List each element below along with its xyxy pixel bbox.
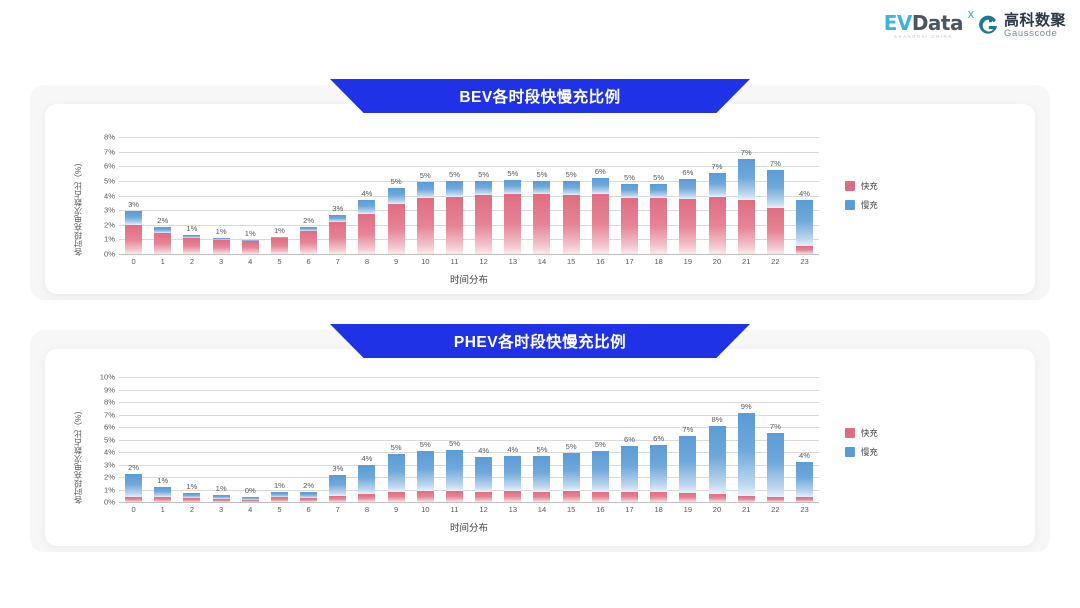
- stacked-bar[interactable]: [329, 215, 346, 254]
- bar-segment-slow-charge[interactable]: [563, 181, 580, 195]
- x-axis-tick: 0: [119, 505, 148, 514]
- y-axis-tick: 6%: [104, 162, 115, 171]
- legend-label: 慢充: [861, 446, 878, 458]
- y-axis-tick: 7%: [104, 410, 115, 419]
- y-axis-tick: 0%: [104, 250, 115, 259]
- bar-group: 2%1%1%1%0%1%2%3%4%5%5%5%4%4%5%5%5%6%6%7%…: [119, 377, 819, 502]
- stacked-bar[interactable]: [417, 182, 434, 254]
- bar-segment-slow-charge[interactable]: [504, 180, 521, 194]
- x-axis-tick: 12: [469, 505, 498, 514]
- stacked-bar[interactable]: [767, 170, 784, 254]
- bar-segment-fast-charge[interactable]: [213, 499, 230, 502]
- bar-segment-fast-charge[interactable]: [154, 497, 171, 502]
- stacked-bar[interactable]: [213, 238, 230, 254]
- bar-column[interactable]: 1%: [265, 377, 294, 502]
- phev-card: 0%1%2%3%4%5%6%7%8%9%10%2%1%1%1%0%1%2%3%4…: [45, 349, 1035, 546]
- x-axis-ticks: 01234567891011121314151617181920212223: [119, 257, 819, 266]
- bar-segment-slow-charge[interactable]: [533, 181, 550, 194]
- bar-segment-fast-charge[interactable]: [650, 198, 667, 254]
- bar-column[interactable]: 1%: [177, 137, 206, 254]
- bar-segment-slow-charge[interactable]: [154, 487, 171, 497]
- bar-segment-slow-charge[interactable]: [650, 445, 667, 493]
- bar-column[interactable]: 5%: [440, 137, 469, 254]
- bar-segment-fast-charge[interactable]: [679, 493, 696, 502]
- bar-column[interactable]: 5%: [615, 137, 644, 254]
- stacked-bar[interactable]: [388, 454, 405, 502]
- stacked-bar[interactable]: [242, 240, 259, 254]
- y-axis-tick: 4%: [104, 448, 115, 457]
- bar-column[interactable]: 0%: [236, 377, 265, 502]
- bar-segment-slow-charge[interactable]: [621, 184, 638, 198]
- x-axis-tick: 16: [586, 505, 615, 514]
- legend-item[interactable]: 快充: [845, 180, 878, 192]
- bar-column[interactable]: 5%: [498, 137, 527, 254]
- legend-item[interactable]: 慢充: [845, 446, 878, 458]
- x-axis-tick: 16: [586, 257, 615, 266]
- stacked-bar[interactable]: [475, 457, 492, 502]
- x-axis-ticks: 01234567891011121314151617181920212223: [119, 505, 819, 514]
- x-axis-tick: 17: [615, 505, 644, 514]
- x-axis-tick: 6: [294, 257, 323, 266]
- bar-column[interactable]: 2%: [119, 377, 148, 502]
- stacked-bar[interactable]: [563, 181, 580, 254]
- chart-legend: 快充慢充: [845, 427, 878, 458]
- x-axis-tick: 5: [265, 505, 294, 514]
- x-axis-tick: 14: [527, 505, 556, 514]
- phev-banner-title: PHEV各时段快慢充比例: [330, 324, 750, 358]
- bar-segment-fast-charge[interactable]: [358, 494, 375, 503]
- bar-column[interactable]: 6%: [644, 377, 673, 502]
- bar-column[interactable]: 3%: [323, 137, 352, 254]
- bar-column[interactable]: 4%: [352, 137, 381, 254]
- x-axis-tick: 9: [382, 257, 411, 266]
- gausscode-name-cn: 高科数聚: [1004, 13, 1066, 29]
- bar-segment-fast-charge[interactable]: [533, 492, 550, 502]
- bar-column[interactable]: 1%: [177, 377, 206, 502]
- bar-segment-fast-charge[interactable]: [504, 491, 521, 502]
- x-axis-label: 时间分布: [119, 272, 819, 286]
- x-axis-label: 时间分布: [119, 520, 819, 534]
- bar-column[interactable]: 5%: [527, 377, 556, 502]
- bar-segment-fast-charge[interactable]: [242, 241, 259, 254]
- bar-column[interactable]: 4%: [469, 377, 498, 502]
- bar-value-label: 8%: [712, 415, 723, 424]
- y-axis-tick: 3%: [104, 206, 115, 215]
- stacked-bar[interactable]: [563, 453, 580, 502]
- bar-segment-fast-charge[interactable]: [183, 238, 200, 254]
- bar-column[interactable]: 7%: [732, 137, 761, 254]
- bar-column[interactable]: 5%: [586, 377, 615, 502]
- bar-segment-fast-charge[interactable]: [767, 497, 784, 502]
- stacked-bar[interactable]: [650, 445, 667, 503]
- bar-segment-slow-charge[interactable]: [388, 188, 405, 203]
- bar-segment-fast-charge[interactable]: [504, 194, 521, 254]
- stacked-bar[interactable]: [329, 475, 346, 503]
- bar-value-label: 1%: [245, 229, 256, 238]
- stacked-bar[interactable]: [738, 413, 755, 502]
- x-axis-tick: 0: [119, 257, 148, 266]
- bar-column[interactable]: 5%: [411, 377, 440, 502]
- bar-value-label: 4%: [507, 445, 518, 454]
- legend-label: 慢充: [861, 199, 878, 211]
- stacked-bar[interactable]: [242, 497, 259, 502]
- bar-column[interactable]: 4%: [498, 377, 527, 502]
- bar-column[interactable]: 7%: [673, 377, 702, 502]
- bar-segment-fast-charge[interactable]: [767, 208, 784, 254]
- bar-segment-fast-charge[interactable]: [183, 498, 200, 502]
- evdata-wordmark: EVDatax: [884, 13, 963, 33]
- x-axis-tick: 8: [352, 257, 381, 266]
- bar-segment-slow-charge[interactable]: [533, 456, 550, 492]
- bar-group: 3%2%1%1%1%1%2%3%4%5%5%5%5%5%5%5%6%5%5%6%…: [119, 137, 819, 254]
- bar-value-label: 1%: [186, 482, 197, 491]
- y-axis-tick: 8%: [104, 398, 115, 407]
- x-axis-tick: 2: [177, 257, 206, 266]
- y-axis-tick: 2%: [104, 473, 115, 482]
- bar-segment-fast-charge[interactable]: [650, 492, 667, 502]
- gausscode-g-mark-icon: [977, 15, 999, 37]
- bar-value-label: 5%: [449, 439, 460, 448]
- bar-value-label: 7%: [741, 148, 752, 157]
- bar-segment-slow-charge[interactable]: [563, 453, 580, 491]
- evdata-wordmark-ev: EV: [884, 11, 912, 35]
- phev-chart: 0%1%2%3%4%5%6%7%8%9%10%2%1%1%1%0%1%2%3%4…: [45, 349, 1035, 546]
- bar-column[interactable]: 5%: [557, 377, 586, 502]
- bar-column[interactable]: 6%: [673, 137, 702, 254]
- bar-value-label: 6%: [624, 435, 635, 444]
- gridline: [119, 254, 819, 255]
- bar-segment-slow-charge[interactable]: [329, 475, 346, 496]
- bar-segment-fast-charge[interactable]: [563, 491, 580, 502]
- stacked-bar[interactable]: [738, 159, 755, 254]
- bar-column[interactable]: 1%: [265, 137, 294, 254]
- bar-value-label: 3%: [128, 200, 139, 209]
- stacked-bar[interactable]: [388, 188, 405, 254]
- bar-segment-slow-charge[interactable]: [709, 173, 726, 197]
- legend-label: 快充: [861, 180, 878, 192]
- bar-segment-fast-charge[interactable]: [300, 498, 317, 502]
- legend-item[interactable]: 慢充: [845, 199, 878, 211]
- bar-segment-slow-charge[interactable]: [738, 159, 755, 200]
- bev-banner-title: BEV各时段快慢充比例: [330, 79, 750, 113]
- stacked-bar[interactable]: [709, 173, 726, 254]
- bar-segment-slow-charge[interactable]: [767, 433, 784, 497]
- bar-segment-fast-charge[interactable]: [358, 214, 375, 254]
- stacked-bar[interactable]: [154, 487, 171, 502]
- bar-column[interactable]: 5%: [469, 137, 498, 254]
- bar-value-label: 3%: [332, 204, 343, 213]
- bar-column[interactable]: 6%: [615, 377, 644, 502]
- stacked-bar[interactable]: [446, 181, 463, 254]
- bar-column[interactable]: 2%: [294, 137, 323, 254]
- bar-column[interactable]: 2%: [294, 377, 323, 502]
- bar-segment-slow-charge[interactable]: [475, 457, 492, 492]
- bar-segment-slow-charge[interactable]: [650, 184, 667, 198]
- stacked-bar[interactable]: [504, 180, 521, 254]
- bar-segment-fast-charge[interactable]: [679, 199, 696, 254]
- bar-value-label: 5%: [536, 445, 547, 454]
- x-axis-tick: 20: [702, 257, 731, 266]
- stacked-bar[interactable]: [621, 184, 638, 254]
- y-axis-tick: 6%: [104, 423, 115, 432]
- stacked-bar[interactable]: [679, 179, 696, 254]
- x-axis-tick: 5: [265, 257, 294, 266]
- evdata-wordmark-data: Data: [912, 11, 963, 35]
- bar-value-label: 7%: [682, 425, 693, 434]
- bar-segment-fast-charge[interactable]: [738, 496, 755, 502]
- evdata-tagline: Shanghai China: [894, 35, 952, 39]
- bar-column[interactable]: 1%: [207, 377, 236, 502]
- bar-segment-fast-charge[interactable]: [125, 497, 142, 502]
- evdata-logo: EVDatax Shanghai China: [884, 13, 963, 39]
- bar-column[interactable]: 4%: [352, 377, 381, 502]
- bar-value-label: 4%: [361, 454, 372, 463]
- bar-column[interactable]: 9%: [732, 377, 761, 502]
- x-axis-tick: 13: [498, 505, 527, 514]
- bar-value-label: 4%: [361, 189, 372, 198]
- chart-legend: 快充慢充: [845, 180, 878, 211]
- bar-segment-fast-charge[interactable]: [329, 222, 346, 254]
- stacked-bar[interactable]: [300, 492, 317, 502]
- bar-column[interactable]: 1%: [207, 137, 236, 254]
- bar-column[interactable]: 1%: [236, 137, 265, 254]
- bar-segment-fast-charge[interactable]: [388, 204, 405, 254]
- stacked-bar[interactable]: [271, 237, 288, 254]
- stacked-bar[interactable]: [796, 462, 813, 502]
- y-axis-tick: 1%: [104, 485, 115, 494]
- bar-segment-fast-charge[interactable]: [621, 492, 638, 502]
- bar-segment-fast-charge[interactable]: [796, 246, 813, 254]
- stacked-bar[interactable]: [446, 450, 463, 503]
- x-axis-tick: 3: [207, 505, 236, 514]
- bar-segment-slow-charge[interactable]: [709, 426, 726, 495]
- stacked-bar[interactable]: [709, 426, 726, 502]
- stacked-bar[interactable]: [475, 181, 492, 254]
- bar-value-label: 6%: [653, 434, 664, 443]
- bar-segment-slow-charge[interactable]: [446, 181, 463, 197]
- bar-column[interactable]: 4%: [790, 137, 819, 254]
- stacked-bar[interactable]: [125, 211, 142, 254]
- y-axis-tick: 0%: [104, 498, 115, 507]
- bar-segment-slow-charge[interactable]: [417, 182, 434, 199]
- bar-segment-slow-charge[interactable]: [621, 446, 638, 492]
- stacked-bar[interactable]: [621, 446, 638, 502]
- stacked-bar[interactable]: [592, 451, 609, 502]
- bar-segment-slow-charge[interactable]: [796, 200, 813, 246]
- bar-segment-slow-charge[interactable]: [767, 170, 784, 207]
- x-axis-tick: 11: [440, 505, 469, 514]
- page-header: EVDatax Shanghai China 高科数聚 Gausscode: [0, 0, 1080, 62]
- bar-segment-fast-charge[interactable]: [709, 494, 726, 502]
- stacked-bar[interactable]: [300, 227, 317, 254]
- bar-segment-fast-charge[interactable]: [271, 238, 288, 254]
- stacked-bar[interactable]: [767, 433, 784, 502]
- bar-segment-fast-charge[interactable]: [417, 198, 434, 254]
- x-axis-tick: 10: [411, 257, 440, 266]
- legend-swatch: [845, 428, 855, 438]
- bar-segment-fast-charge[interactable]: [446, 491, 463, 503]
- y-axis-tick: 1%: [104, 235, 115, 244]
- bar-segment-fast-charge[interactable]: [300, 231, 317, 254]
- bar-column[interactable]: 5%: [644, 137, 673, 254]
- bar-segment-slow-charge[interactable]: [796, 462, 813, 497]
- bar-segment-fast-charge[interactable]: [796, 497, 813, 502]
- x-axis-tick: 10: [411, 505, 440, 514]
- bar-segment-slow-charge[interactable]: [592, 451, 609, 492]
- legend-item[interactable]: 快充: [845, 427, 878, 439]
- bar-segment-fast-charge[interactable]: [533, 194, 550, 254]
- x-axis-tick: 15: [557, 505, 586, 514]
- bar-column[interactable]: 2%: [148, 137, 177, 254]
- bar-value-label: 5%: [449, 170, 460, 179]
- bar-segment-slow-charge[interactable]: [358, 465, 375, 494]
- y-axis-tick: 10%: [100, 373, 115, 382]
- bar-value-label: 7%: [712, 162, 723, 171]
- stacked-bar[interactable]: [533, 181, 550, 254]
- bar-segment-fast-charge[interactable]: [125, 225, 142, 254]
- bar-segment-fast-charge[interactable]: [563, 195, 580, 254]
- bar-segment-slow-charge[interactable]: [125, 211, 142, 225]
- bar-value-label: 5%: [391, 177, 402, 186]
- x-axis-tick: 23: [790, 257, 819, 266]
- bar-column[interactable]: 7%: [761, 377, 790, 502]
- x-axis-tick: 19: [673, 257, 702, 266]
- x-axis-tick: 22: [761, 505, 790, 514]
- bar-column[interactable]: 5%: [382, 377, 411, 502]
- bar-segment-fast-charge[interactable]: [475, 492, 492, 502]
- bar-segment-slow-charge[interactable]: [417, 451, 434, 492]
- bar-value-label: 2%: [303, 216, 314, 225]
- stacked-bar[interactable]: [154, 227, 171, 254]
- bar-segment-slow-charge[interactable]: [504, 456, 521, 492]
- bar-segment-slow-charge[interactable]: [358, 200, 375, 214]
- stacked-bar[interactable]: [533, 456, 550, 502]
- bar-column[interactable]: 5%: [382, 137, 411, 254]
- bar-value-label: 1%: [274, 226, 285, 235]
- x-axis-tick: 4: [236, 257, 265, 266]
- y-axis-tick: 7%: [104, 147, 115, 156]
- bar-column[interactable]: 4%: [790, 377, 819, 502]
- bar-segment-fast-charge[interactable]: [271, 497, 288, 502]
- bar-column[interactable]: 8%: [702, 377, 731, 502]
- bar-segment-fast-charge[interactable]: [242, 500, 259, 502]
- bar-value-label: 9%: [741, 402, 752, 411]
- stacked-bar[interactable]: [271, 492, 288, 502]
- bar-value-label: 4%: [478, 446, 489, 455]
- bar-column[interactable]: 3%: [119, 137, 148, 254]
- bar-segment-fast-charge[interactable]: [417, 491, 434, 502]
- stacked-bar[interactable]: [358, 200, 375, 254]
- stacked-bar[interactable]: [650, 184, 667, 254]
- stacked-bar[interactable]: [679, 436, 696, 502]
- bar-segment-slow-charge[interactable]: [592, 178, 609, 195]
- bar-column[interactable]: 5%: [557, 137, 586, 254]
- bar-column[interactable]: 7%: [761, 137, 790, 254]
- stacked-bar[interactable]: [796, 200, 813, 254]
- bar-segment-slow-charge[interactable]: [738, 413, 755, 496]
- bar-segment-fast-charge[interactable]: [621, 198, 638, 254]
- stacked-bar[interactable]: [358, 465, 375, 503]
- x-axis-tick: 1: [148, 505, 177, 514]
- bar-value-label: 6%: [595, 167, 606, 176]
- bar-segment-slow-charge[interactable]: [125, 474, 142, 497]
- x-axis-tick: 14: [527, 257, 556, 266]
- y-axis-tick: 2%: [104, 220, 115, 229]
- legend-swatch: [845, 200, 855, 210]
- bar-segment-fast-charge[interactable]: [738, 200, 755, 254]
- stacked-bar[interactable]: [125, 474, 142, 502]
- x-axis-tick: 23: [790, 505, 819, 514]
- evdata-superscript-x: x: [967, 8, 974, 20]
- stacked-bar[interactable]: [592, 178, 609, 254]
- bar-segment-slow-charge[interactable]: [475, 181, 492, 195]
- legend-swatch: [845, 181, 855, 191]
- bar-segment-fast-charge[interactable]: [446, 197, 463, 254]
- x-axis-tick: 20: [702, 505, 731, 514]
- x-axis-tick: 13: [498, 257, 527, 266]
- bar-segment-slow-charge[interactable]: [329, 215, 346, 223]
- bar-segment-fast-charge[interactable]: [475, 195, 492, 254]
- bar-value-label: 4%: [799, 451, 810, 460]
- bar-segment-slow-charge[interactable]: [679, 436, 696, 493]
- bar-column[interactable]: 3%: [323, 377, 352, 502]
- bar-column[interactable]: 5%: [527, 137, 556, 254]
- bar-value-label: 5%: [420, 440, 431, 449]
- bar-value-label: 3%: [332, 464, 343, 473]
- stacked-bar[interactable]: [213, 495, 230, 503]
- gridline: [119, 502, 819, 503]
- bar-segment-slow-charge[interactable]: [679, 179, 696, 199]
- bar-value-label: 5%: [566, 170, 577, 179]
- x-axis-tick: 3: [207, 257, 236, 266]
- bar-segment-slow-charge[interactable]: [388, 454, 405, 492]
- bar-column[interactable]: 7%: [702, 137, 731, 254]
- stacked-bar[interactable]: [183, 493, 200, 502]
- bar-segment-fast-charge[interactable]: [592, 492, 609, 502]
- bar-value-label: 6%: [682, 168, 693, 177]
- bar-value-label: 0%: [245, 486, 256, 495]
- x-axis-tick: 17: [615, 257, 644, 266]
- bar-segment-fast-charge[interactable]: [213, 240, 230, 254]
- bar-column[interactable]: 5%: [440, 377, 469, 502]
- bar-segment-fast-charge[interactable]: [709, 197, 726, 254]
- bar-column[interactable]: 5%: [411, 137, 440, 254]
- bar-value-label: 5%: [391, 443, 402, 452]
- bar-value-label: 7%: [770, 422, 781, 431]
- stacked-bar[interactable]: [504, 456, 521, 502]
- bar-value-label: 5%: [653, 173, 664, 182]
- legend-swatch: [845, 447, 855, 457]
- bev-plot-area: 0%1%2%3%4%5%6%7%8%3%2%1%1%1%1%2%3%4%5%5%…: [119, 137, 819, 254]
- bar-segment-fast-charge[interactable]: [592, 194, 609, 254]
- x-axis-tick: 7: [323, 257, 352, 266]
- stacked-bar[interactable]: [183, 235, 200, 254]
- x-axis-tick: 6: [294, 505, 323, 514]
- bar-column[interactable]: 1%: [148, 377, 177, 502]
- bar-column[interactable]: 6%: [586, 137, 615, 254]
- bar-segment-slow-charge[interactable]: [446, 450, 463, 491]
- bar-segment-fast-charge[interactable]: [388, 492, 405, 502]
- x-axis-tick: 4: [236, 505, 265, 514]
- x-axis-tick: 12: [469, 257, 498, 266]
- bar-segment-fast-charge[interactable]: [154, 233, 171, 254]
- y-axis-tick: 8%: [104, 133, 115, 142]
- stacked-bar[interactable]: [417, 451, 434, 502]
- bar-value-label: 5%: [595, 440, 606, 449]
- bar-segment-fast-charge[interactable]: [329, 496, 346, 503]
- bar-value-label: 2%: [128, 463, 139, 472]
- bar-value-label: 5%: [536, 170, 547, 179]
